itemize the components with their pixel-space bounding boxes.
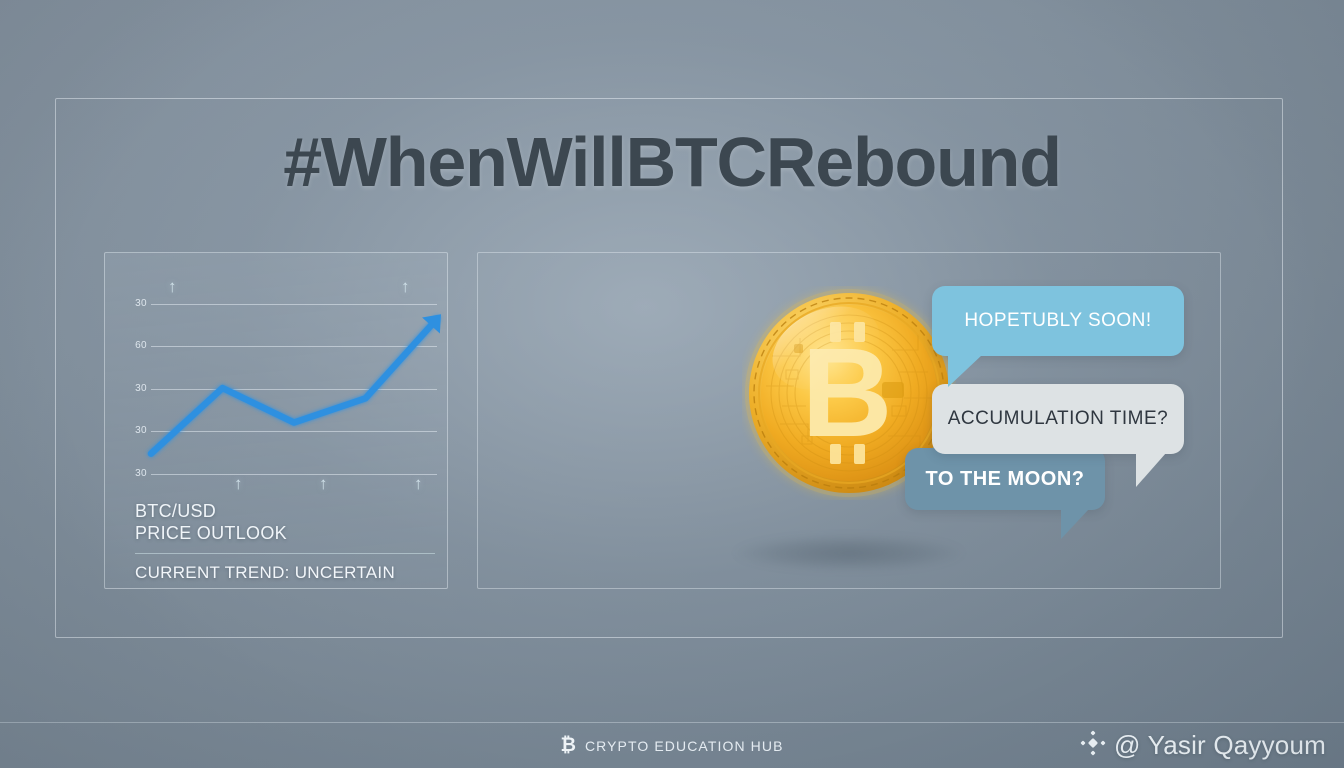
caption-divider [135, 553, 435, 554]
speech-bubble-text: TO THE MOON? [926, 468, 1085, 491]
watermark-handle: @ Yasir Qayyoum [1114, 730, 1326, 761]
speech-bubble-tail [948, 355, 982, 387]
speech-bubble-hopetubly-soon: HOPETUBLY SOON! [932, 286, 1184, 356]
page-title: #WhenWillBTCRebound [0, 122, 1344, 202]
chart-caption-line-2: PRICE OUTLOOK [135, 523, 435, 545]
diamond-logo-icon [1080, 730, 1106, 761]
coin-shadow [734, 535, 964, 571]
footer-brand-text: CRYPTO EDUCATION HUB [585, 738, 784, 754]
chart-panel: 30 60 30 30 30 ↑ ↑ ↑ ↑ ↑ BTC/USD PRICE O… [104, 252, 448, 589]
speech-bubble-text: ACCUMULATION TIME? [948, 408, 1169, 430]
chart-caption-line-1: BTC/USD [135, 501, 435, 523]
chart-caption: BTC/USD PRICE OUTLOOK [135, 501, 435, 545]
speech-bubble-to-the-moon: TO THE MOON? [905, 448, 1105, 510]
speech-bubble-text: HOPETUBLY SOON! [964, 310, 1151, 332]
infographic-stage: #WhenWillBTCRebound 30 60 30 30 30 ↑ ↑ ↑… [0, 0, 1344, 768]
chart-status-text: CURRENT TREND: UNCERTAIN [135, 563, 445, 583]
speech-bubble-accumulation-time: ACCUMULATION TIME? [932, 384, 1184, 454]
watermark: @ Yasir Qayyoum [1080, 730, 1326, 761]
speech-bubble-tail [1061, 509, 1089, 539]
footer-divider [0, 722, 1344, 723]
bitcoin-symbol-icon: ₿ [560, 736, 575, 755]
speech-bubble-tail [1136, 453, 1166, 487]
